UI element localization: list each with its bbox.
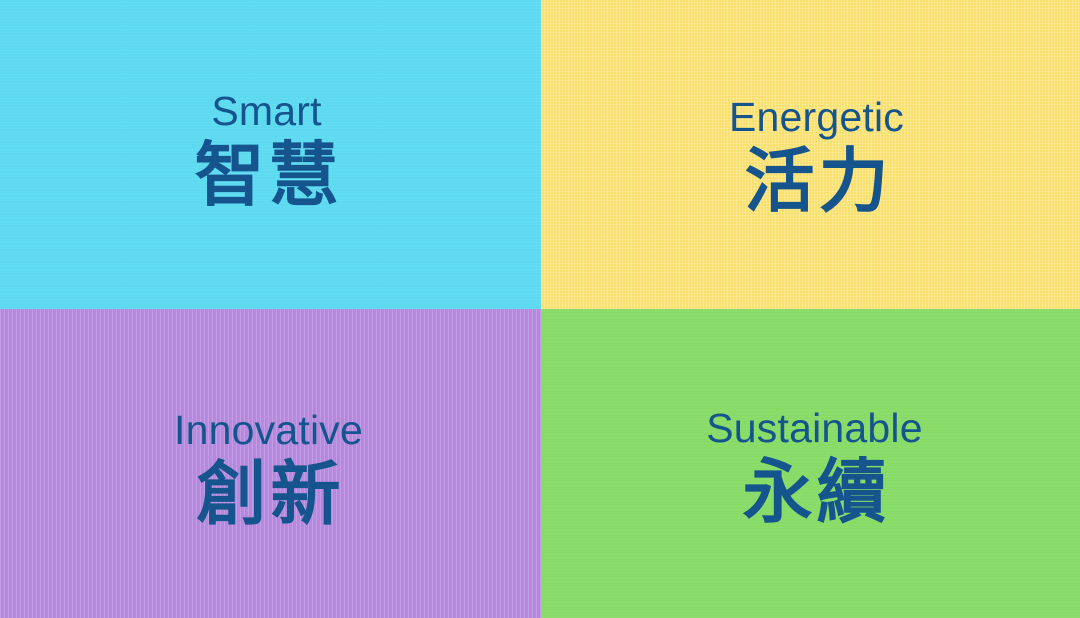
label-zh-smart: 智慧 [191, 140, 343, 210]
label-en-innovative: Innovative [174, 410, 363, 451]
quadrant-energetic: Energetic 活力 [541, 0, 1080, 309]
quadrant-sustainable: Sustainable 永續 [541, 309, 1080, 618]
label-en-smart: Smart [211, 91, 321, 132]
quadrant-innovative: Innovative 創新 [0, 309, 541, 618]
quadrant-smart: Smart 智慧 [0, 0, 541, 309]
label-en-sustainable: Sustainable [706, 408, 922, 449]
label-zh-innovative: 創新 [193, 459, 345, 529]
label-en-energetic: Energetic [729, 97, 904, 138]
text-stack-innovative: Innovative 創新 [174, 410, 363, 529]
label-zh-energetic: 活力 [740, 146, 892, 216]
text-stack-energetic: Energetic 活力 [729, 97, 904, 216]
text-stack-smart: Smart 智慧 [191, 91, 343, 210]
brand-values-quadrant-poster: Smart 智慧 Energetic 活力 Innovative 創新 Sust… [0, 0, 1080, 618]
label-zh-sustainable: 永續 [738, 457, 890, 527]
text-stack-sustainable: Sustainable 永續 [706, 408, 922, 527]
